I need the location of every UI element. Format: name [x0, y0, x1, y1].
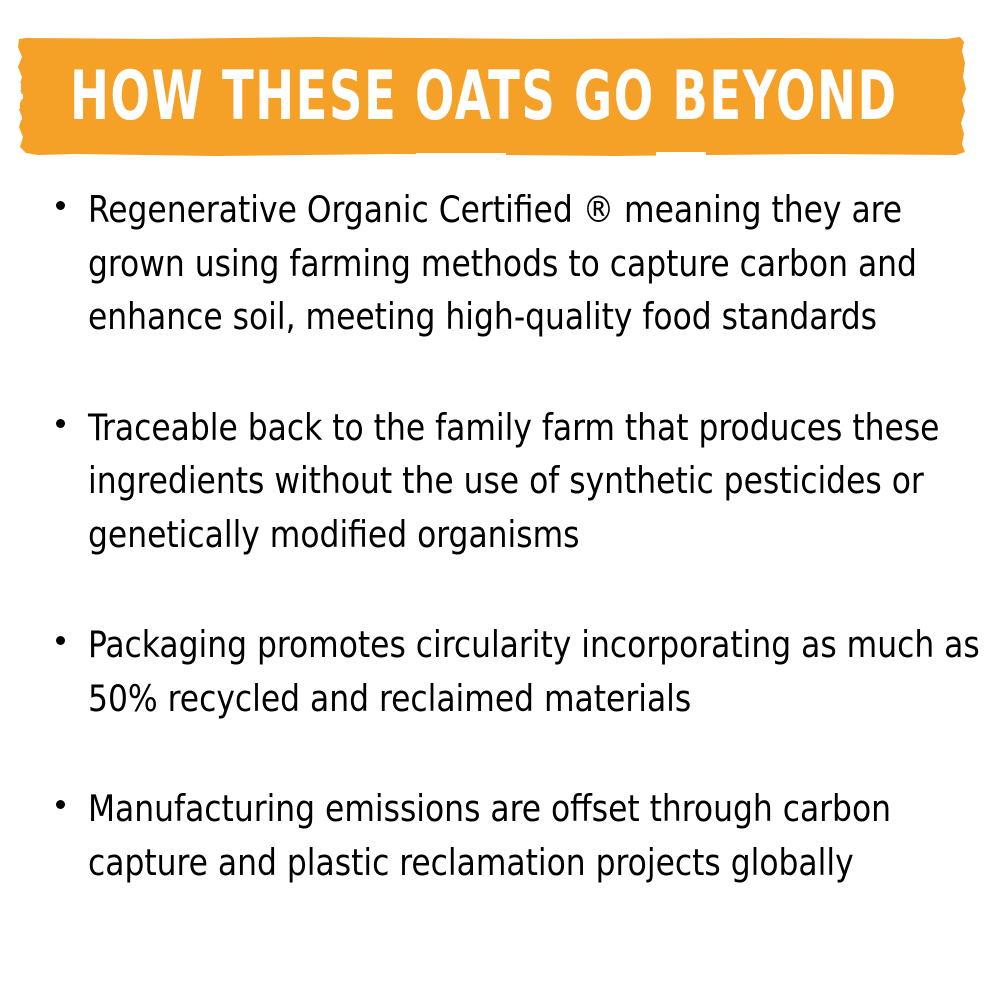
- list-item: Manufacturing emissions are offset throu…: [50, 782, 990, 889]
- list-item: Regenerative Organic Certified ® meaning…: [50, 183, 990, 344]
- list-item-text: Packaging promotes circularity incorpora…: [88, 618, 990, 725]
- bullet-dot-icon: [56, 201, 65, 210]
- benefits-list: Regenerative Organic Certified ® meaning…: [50, 183, 990, 889]
- bullet-dot-icon: [56, 800, 65, 809]
- list-item-text: Traceable back to the family farm that p…: [88, 401, 990, 562]
- header-banner: HOW THESE OATS GO BEYOND: [16, 37, 980, 156]
- product-benefits-panel: HOW THESE OATS GO BEYOND Regenerative Or…: [0, 0, 1000, 1000]
- bullet-dot-icon: [56, 419, 65, 428]
- list-item-text: Manufacturing emissions are offset throu…: [88, 782, 990, 889]
- list-item: Traceable back to the family farm that p…: [50, 401, 990, 562]
- list-item-text: Regenerative Organic Certified ® meaning…: [88, 183, 990, 344]
- list-item: Packaging promotes circularity incorpora…: [50, 618, 990, 725]
- bullet-dot-icon: [56, 636, 65, 645]
- page-title: HOW THESE OATS GO BEYOND: [70, 37, 739, 156]
